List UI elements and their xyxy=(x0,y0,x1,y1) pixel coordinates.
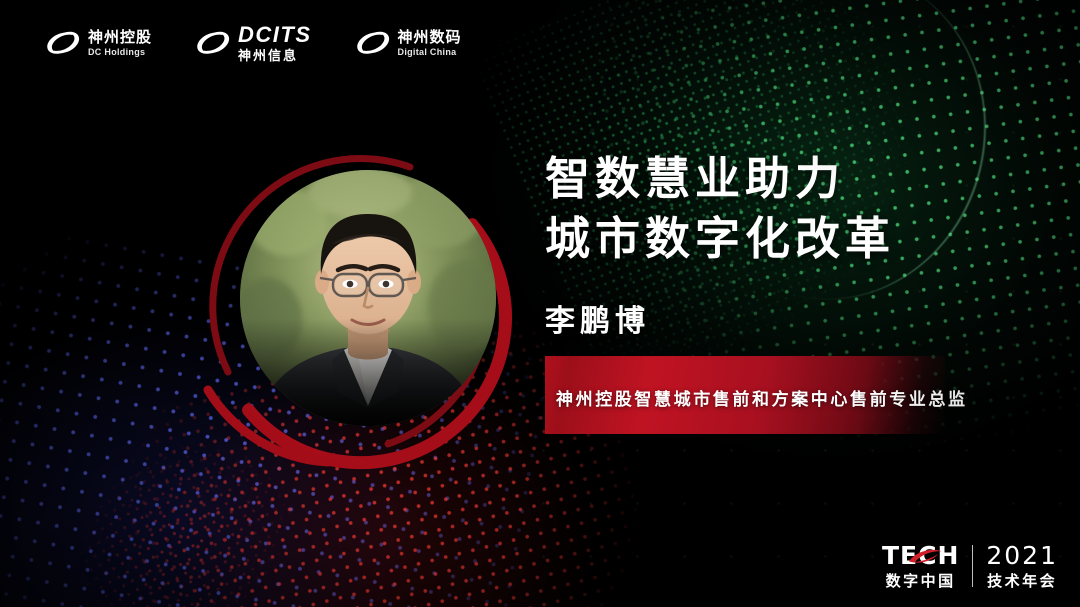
logo-dc-holdings: 神州控股 DC Holdings xyxy=(46,30,152,57)
headline-block: 智数慧业助力 城市数字化改革 李鹏博 xyxy=(545,150,1045,340)
brand-divider xyxy=(972,545,973,587)
logo-name-en: DC Holdings xyxy=(88,48,152,57)
presentation-slide: 神州控股 DC Holdings DCITS 神州信息 xyxy=(0,0,1080,607)
headline-line-1: 智数慧业助力 xyxy=(545,150,1045,210)
event-year: 2021 xyxy=(986,543,1058,568)
swoosh-logo-icon xyxy=(46,30,80,56)
logo-name-en: DCITS xyxy=(238,24,312,46)
portrait-illustration xyxy=(240,170,496,426)
speaker-photo xyxy=(240,170,496,426)
logo-name-cn: 神州控股 xyxy=(88,30,152,45)
event-brand-right: 2021 技术年会 xyxy=(986,543,1058,589)
tech-wordmark-cn: 数字中国 xyxy=(886,574,956,589)
event-brand: TECH 数字中国 2021 技术年会 xyxy=(882,543,1058,589)
logo-name-cn: 神州信息 xyxy=(238,49,312,62)
swoosh-logo-icon xyxy=(196,30,230,56)
event-name-cn: 技术年会 xyxy=(987,574,1057,589)
event-brand-left: TECH 数字中国 xyxy=(882,543,959,589)
speaker-portrait-group xyxy=(178,122,514,470)
logo-text: DCITS 神州信息 xyxy=(238,24,312,62)
speaker-role: 神州控股智慧城市售前和方案中心售前专业总监 xyxy=(556,385,968,410)
tech-wordmark-text: TECH xyxy=(882,541,959,570)
logo-name-en: Digital China xyxy=(398,48,462,57)
headline-line-2: 城市数字化改革 xyxy=(545,210,1045,270)
speaker-name: 李鹏博 xyxy=(545,296,1045,340)
logo-text: 神州数码 Digital China xyxy=(398,30,462,57)
logo-dcits: DCITS 神州信息 xyxy=(196,24,312,62)
logo-name-cn: 神州数码 xyxy=(398,30,462,45)
logo-bar: 神州控股 DC Holdings DCITS 神州信息 xyxy=(46,24,462,62)
swoosh-logo-icon xyxy=(356,30,390,56)
logo-digital-china: 神州数码 Digital China xyxy=(356,30,462,57)
tech-wordmark: TECH xyxy=(882,543,959,568)
logo-text: 神州控股 DC Holdings xyxy=(88,30,152,57)
